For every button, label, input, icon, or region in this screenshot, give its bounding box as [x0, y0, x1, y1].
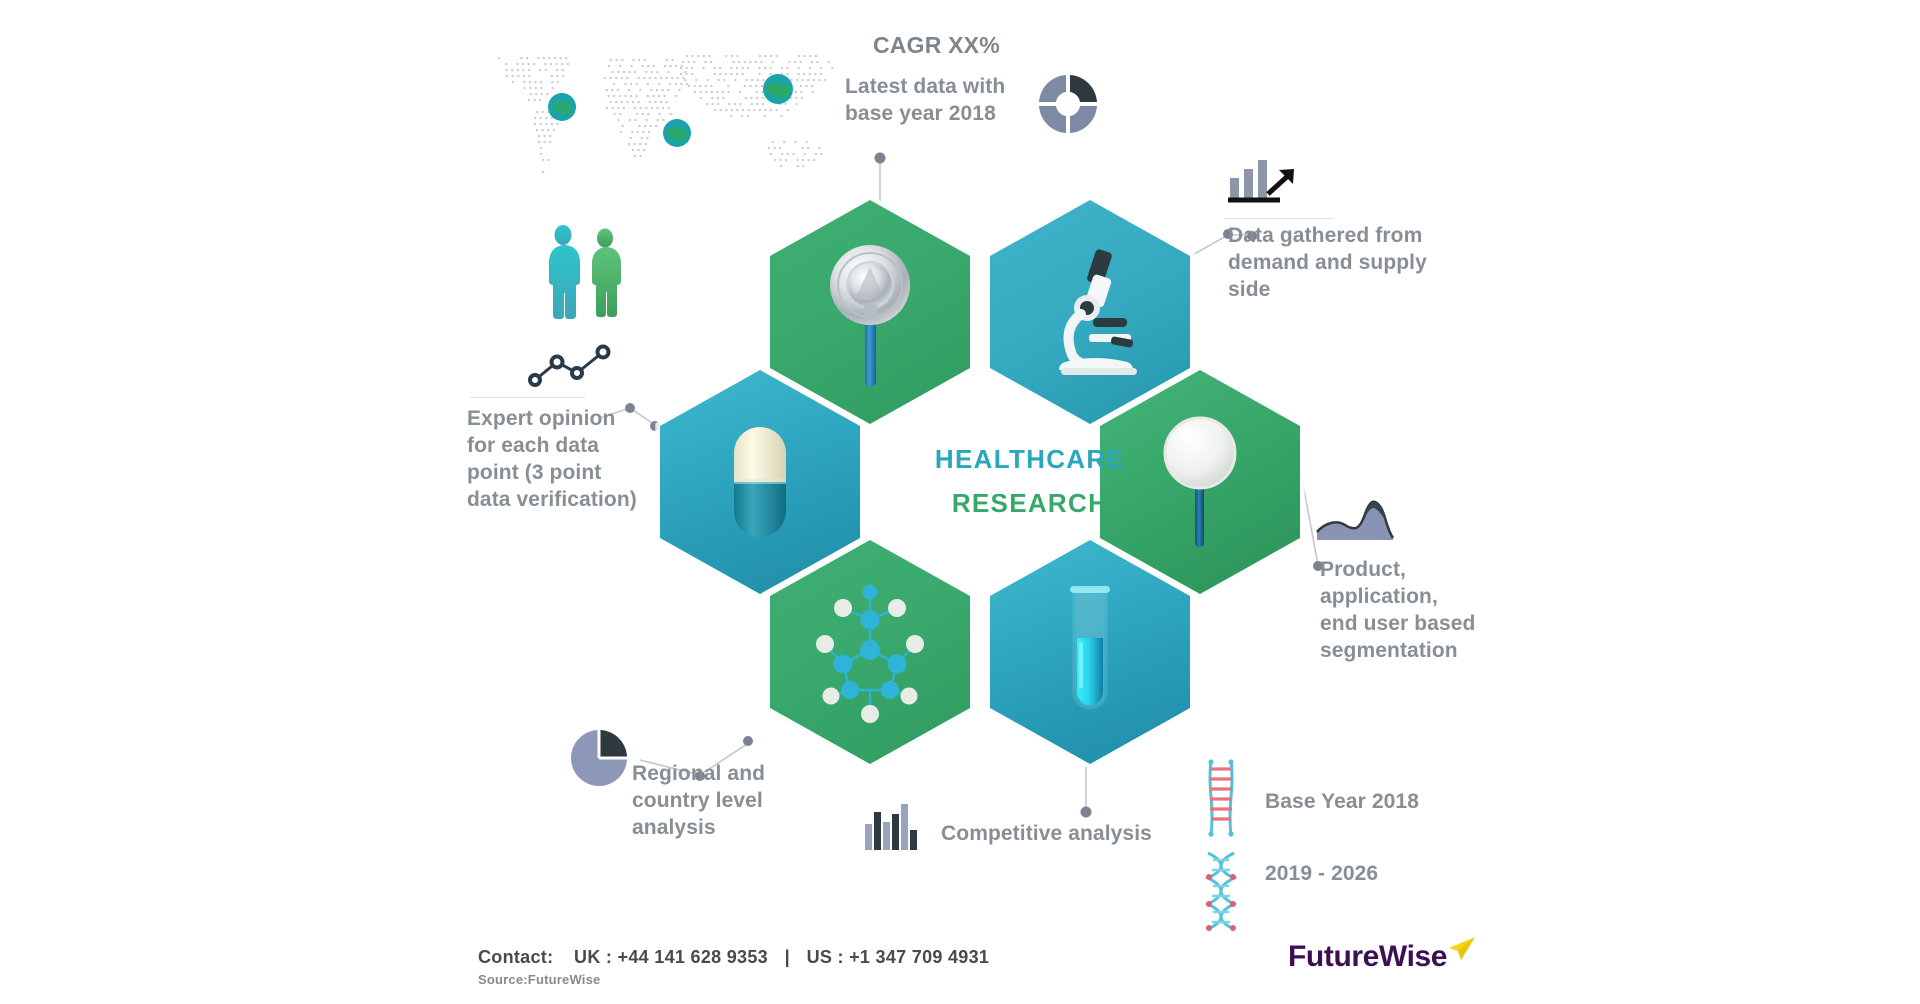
footer-contact: Contact: UK : +44 141 628 9353 | US : +1…	[478, 947, 989, 987]
us-phone: +1 347 709 4931	[849, 947, 989, 967]
contact-label: Contact:	[478, 947, 553, 967]
cagr-label: CAGR XX%	[873, 32, 1000, 59]
latest-data-label: Latest data with base year 2018	[845, 73, 1045, 127]
test-tube-icon	[1040, 572, 1140, 732]
capsule-pill-icon	[710, 407, 810, 557]
expert-opinion-label: Expert opinion for each data point (3 po…	[467, 405, 647, 513]
paper-plane-icon	[1445, 934, 1479, 964]
title-line-2: RESEARCH	[880, 481, 1180, 525]
segmentation-label: Product, application, end user based seg…	[1320, 556, 1510, 664]
molecule-icon	[795, 572, 945, 732]
separator: |	[785, 947, 790, 967]
hexagon-molecule[interactable]	[770, 540, 970, 764]
us-label: US :	[807, 947, 844, 967]
hex-face	[990, 540, 1190, 764]
futurewise-logo: FutureWise	[1288, 940, 1479, 974]
regional-label: Regional and country level analysis	[632, 760, 812, 841]
forecast-period-label: 2019 - 2026	[1265, 860, 1485, 887]
competitive-label: Competitive analysis	[941, 820, 1191, 847]
hex-face	[770, 540, 970, 764]
stethoscope-icon	[810, 237, 930, 387]
uk-phone: +44 141 628 9353	[618, 947, 768, 967]
uk-label: UK :	[574, 947, 612, 967]
source-label: Source:FutureWise	[478, 972, 989, 987]
microscope-icon	[1025, 242, 1155, 382]
demand-supply-label: Data gathered from demand and supply sid…	[1228, 222, 1458, 303]
page-title: HEALTHCARE RESEARCH	[880, 437, 1180, 525]
brand-name: FutureWise	[1288, 940, 1447, 974]
hexagon-testtube[interactable]	[990, 540, 1190, 764]
infographic-canvas: {}	[0, 0, 1920, 1004]
title-line-1: HEALTHCARE	[880, 437, 1180, 481]
base-year-label: Base Year 2018	[1265, 788, 1485, 815]
